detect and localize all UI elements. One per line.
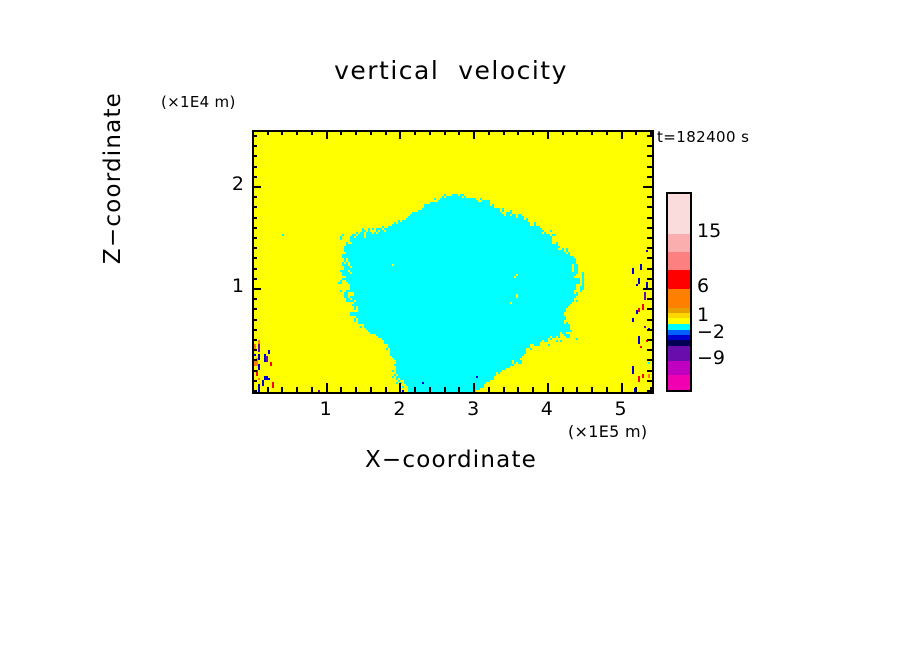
colorbar-band <box>668 234 690 252</box>
x-tick <box>503 387 505 392</box>
x-ticklabel: 1 <box>306 398 346 420</box>
x-tick <box>267 387 269 392</box>
y-tick <box>252 206 257 208</box>
x-ticklabel: 2 <box>379 398 419 420</box>
x-ticklabel: 5 <box>601 398 641 420</box>
y-tick-right <box>647 329 652 331</box>
y-tick <box>252 217 257 219</box>
colorbar-ticklabel: 6 <box>697 275 709 297</box>
colorbar-ticklabel: 15 <box>697 220 721 242</box>
y-tick-right <box>647 298 652 300</box>
x-tick-top <box>547 130 549 139</box>
y-tick <box>252 176 257 178</box>
x-tick <box>576 387 578 392</box>
x-tick <box>458 387 460 392</box>
y-tick-right <box>643 186 652 188</box>
y-tick <box>252 155 257 157</box>
y-tick-right <box>643 288 652 290</box>
y-tick-right <box>647 278 652 280</box>
y-tick-right <box>647 196 652 198</box>
y-ticklabel: 1 <box>204 275 244 297</box>
y-axis-unit-label: (×1E4 m) <box>161 93 236 111</box>
x-tick <box>311 387 313 392</box>
y-tick-right <box>647 268 652 270</box>
y-axis-title: Z−coordinate <box>100 78 130 278</box>
colorbar-band <box>668 346 690 361</box>
x-tick <box>606 387 608 392</box>
x-tick-top <box>444 130 446 135</box>
y-tick-right <box>647 155 652 157</box>
x-tick-top <box>517 130 519 135</box>
y-tick-right <box>647 349 652 351</box>
x-tick <box>532 387 534 392</box>
x-tick-top <box>355 130 357 135</box>
x-tick-top <box>399 130 401 139</box>
y-tick-right <box>647 390 652 392</box>
x-tick-top <box>635 130 637 135</box>
y-tick-right <box>647 339 652 341</box>
y-tick <box>252 135 257 137</box>
colorbar-band <box>668 361 690 376</box>
x-tick-top <box>281 130 283 135</box>
y-tick-right <box>647 380 652 382</box>
x-tick-top <box>621 130 623 139</box>
x-tick <box>355 387 357 392</box>
colorbar-band <box>668 194 690 234</box>
y-tick <box>252 145 257 147</box>
x-tick-top <box>311 130 313 135</box>
x-tick <box>370 387 372 392</box>
y-tick <box>252 166 257 168</box>
y-tick-right <box>647 257 652 259</box>
x-tick <box>444 387 446 392</box>
x-tick <box>488 387 490 392</box>
x-tick-top <box>340 130 342 135</box>
x-tick-top <box>267 130 269 135</box>
time-annotation: t=182400 s <box>657 128 749 146</box>
x-tick <box>326 383 328 392</box>
x-tick <box>281 387 283 392</box>
x-tick <box>517 387 519 392</box>
colorbar-band <box>668 252 690 270</box>
x-tick-top <box>385 130 387 135</box>
x-tick-top <box>488 130 490 135</box>
x-tick-top <box>562 130 564 135</box>
x-tick-top <box>576 130 578 135</box>
page-title: vertical velocity <box>252 56 650 85</box>
y-tick <box>252 319 257 321</box>
y-tick-right <box>647 227 652 229</box>
y-tick <box>252 349 257 351</box>
x-tick-top <box>606 130 608 135</box>
colorbar[interactable] <box>666 192 692 392</box>
y-tick-right <box>647 217 652 219</box>
x-tick <box>621 383 623 392</box>
x-tick-top <box>503 130 505 135</box>
y-tick-right <box>647 166 652 168</box>
x-tick <box>547 383 549 392</box>
colorbar-ticklabel: −2 <box>697 321 725 343</box>
x-axis-title: X−coordinate <box>252 447 650 473</box>
x-ticklabel: 3 <box>453 398 493 420</box>
y-tick <box>252 186 261 188</box>
x-tick <box>473 383 475 392</box>
y-tick-right <box>647 319 652 321</box>
y-tick <box>252 359 257 361</box>
x-tick <box>385 387 387 392</box>
x-tick-top <box>296 130 298 135</box>
y-tick-right <box>647 176 652 178</box>
y-tick <box>252 257 257 259</box>
x-tick <box>399 383 401 392</box>
colorbar-ticklabel: −9 <box>697 347 725 369</box>
x-tick-top <box>414 130 416 135</box>
y-tick <box>252 268 257 270</box>
y-tick <box>252 370 257 372</box>
y-tick-right <box>647 206 652 208</box>
x-ticklabel: 4 <box>527 398 567 420</box>
contour-plot-area <box>252 130 654 394</box>
x-tick <box>414 387 416 392</box>
y-tick <box>252 390 257 392</box>
y-tick <box>252 247 257 249</box>
vertical-velocity-field <box>254 132 652 392</box>
x-tick-top <box>370 130 372 135</box>
x-tick <box>562 387 564 392</box>
y-tick <box>252 227 257 229</box>
x-tick-top <box>532 130 534 135</box>
colorbar-band <box>668 375 690 390</box>
x-tick-top <box>429 130 431 135</box>
x-tick-top <box>473 130 475 139</box>
y-tick <box>252 278 257 280</box>
y-tick <box>252 308 257 310</box>
x-axis-unit-label: (×1E5 m) <box>568 422 647 441</box>
y-tick <box>252 237 257 239</box>
figure-root: vertical velocity (×1E4 m) t=182400 s (×… <box>0 0 904 654</box>
y-tick-right <box>647 145 652 147</box>
x-tick <box>340 387 342 392</box>
y-tick <box>252 288 261 290</box>
x-tick-top <box>326 130 328 139</box>
colorbar-band <box>668 270 690 289</box>
y-tick <box>252 298 257 300</box>
x-tick <box>635 387 637 392</box>
x-tick <box>296 387 298 392</box>
y-tick-right <box>647 370 652 372</box>
x-tick <box>429 387 431 392</box>
x-tick <box>591 387 593 392</box>
y-tick <box>252 329 257 331</box>
x-tick-top <box>591 130 593 135</box>
y-tick <box>252 380 257 382</box>
y-tick-right <box>647 247 652 249</box>
y-tick-right <box>647 135 652 137</box>
y-ticklabel: 2 <box>204 173 244 195</box>
y-tick-right <box>647 237 652 239</box>
colorbar-band <box>668 289 690 308</box>
y-tick-right <box>647 308 652 310</box>
x-tick-top <box>458 130 460 135</box>
y-tick <box>252 339 257 341</box>
y-tick-right <box>647 359 652 361</box>
y-tick <box>252 196 257 198</box>
